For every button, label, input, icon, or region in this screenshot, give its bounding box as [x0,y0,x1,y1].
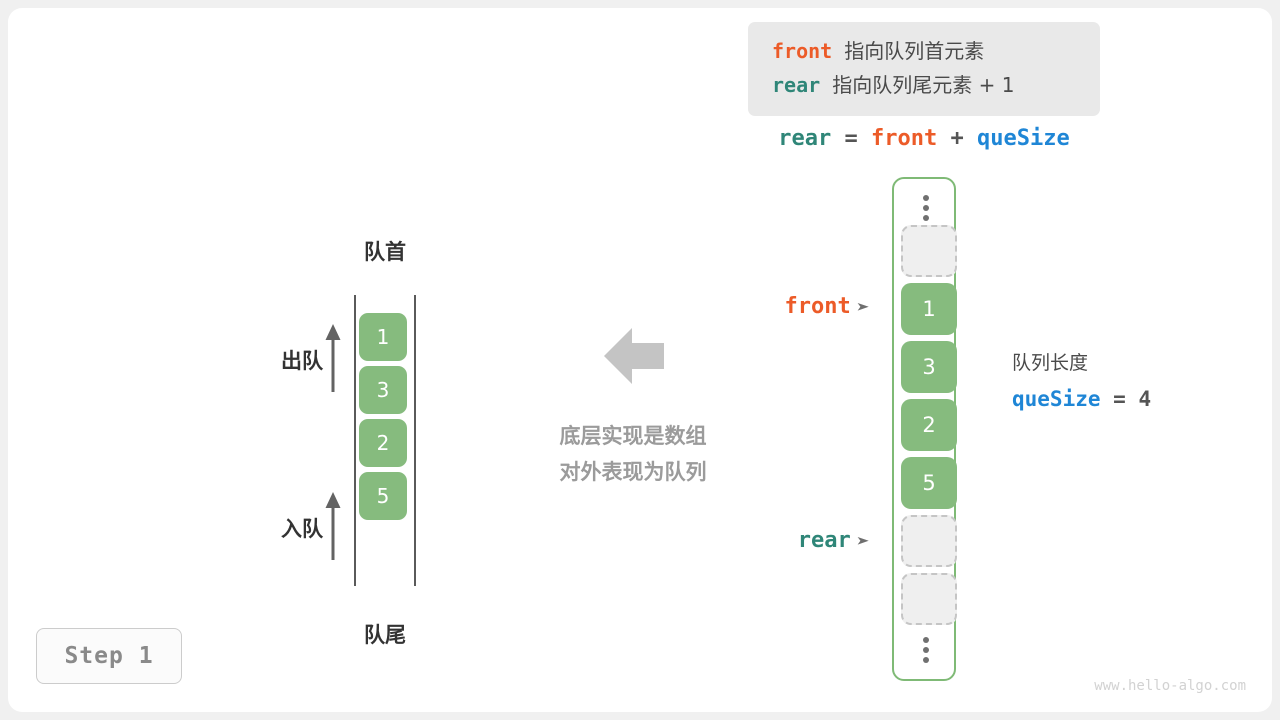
quesize-name: queSize [1012,387,1101,411]
queue-cell-value: 1 [377,325,390,349]
array-cell-3: 2 [901,399,957,451]
center-caption-line-2: 对外表现为队列 [508,454,758,490]
formula-quesize-term: queSize [977,126,1070,151]
queue-cell-value: 3 [377,378,390,402]
pointer-arrow-icon: ➤ [856,532,870,552]
front-description: 指向队列首元素 [844,39,984,63]
array-cell-6 [901,573,957,625]
array-cell-value: 3 [922,355,935,379]
array-cell-value: 1 [922,297,935,321]
array-ellipsis-top-icon [894,191,958,225]
front-pointer-text: front [785,294,851,319]
array-cell-1: 1 [901,283,957,335]
legend-line-front: front 指向队列首元素 [748,34,1100,68]
queue-cell-value: 5 [377,484,390,508]
step-badge: Step 1 [36,628,182,684]
step-badge-label: Step 1 [64,643,153,669]
rear-description: 指向队列尾元素 + 1 [832,73,1014,97]
array-cell-0 [901,225,957,277]
formula-plus: + [951,126,964,151]
queue-wall-left [354,295,356,586]
queue-cell-3: 5 [359,472,407,520]
array-cell-2: 3 [901,341,957,393]
queue-tail-label: 队尾 [325,619,445,649]
queue-cell-2: 2 [359,419,407,467]
pointer-legend-box: front 指向队列首元素 rear 指向队列尾元素 + 1 [748,22,1100,116]
left-arrow-icon [602,326,666,386]
enqueue-arrow-icon [321,490,345,560]
rear-pointer-label: rear➤ [708,528,868,553]
quesize-equals: = [1113,387,1126,411]
pointer-arrow-icon: ➤ [856,298,870,318]
center-caption: 底层实现是数组 对外表现为队列 [508,418,758,490]
array-frame: 1 3 2 5 [892,177,956,681]
array-cell-5 [901,515,957,567]
formula-equals: = [845,126,858,151]
quesize-note: 队列长度 queSize = 4 [1012,348,1151,416]
queue-head-label: 队首 [325,236,445,266]
array-ellipsis-bottom-icon [894,633,958,667]
queue-cell-1: 3 [359,366,407,414]
queue-cell-0: 1 [359,313,407,361]
quesize-note-value-line: queSize = 4 [1012,382,1151,416]
diagram-canvas: front 指向队列首元素 rear 指向队列尾元素 + 1 rear = fr… [8,8,1272,712]
enqueue-label: 入队 [243,513,323,543]
watermark: www.hello-algo.com [1094,678,1246,694]
array-cell-4: 5 [901,457,957,509]
rear-pointer-text: rear [798,528,851,553]
rear-keyword: rear [772,73,820,97]
legend-line-rear: rear 指向队列尾元素 + 1 [748,68,1100,102]
array-cell-value: 2 [922,413,935,437]
dequeue-label: 出队 [243,345,323,375]
front-keyword: front [772,39,832,63]
array-cell-value: 5 [922,471,935,495]
quesize-value: 4 [1138,387,1151,411]
queue-wall-right [414,295,416,586]
formula-front-term: front [871,126,937,151]
center-caption-line-1: 底层实现是数组 [508,418,758,454]
dequeue-arrow-icon [321,322,345,392]
front-pointer-label: front➤ [708,294,868,319]
formula-rear-term: rear [778,126,831,151]
quesize-note-label: 队列长度 [1012,348,1151,378]
rear-formula: rear = front + queSize [748,126,1100,151]
queue-cell-value: 2 [377,431,390,455]
